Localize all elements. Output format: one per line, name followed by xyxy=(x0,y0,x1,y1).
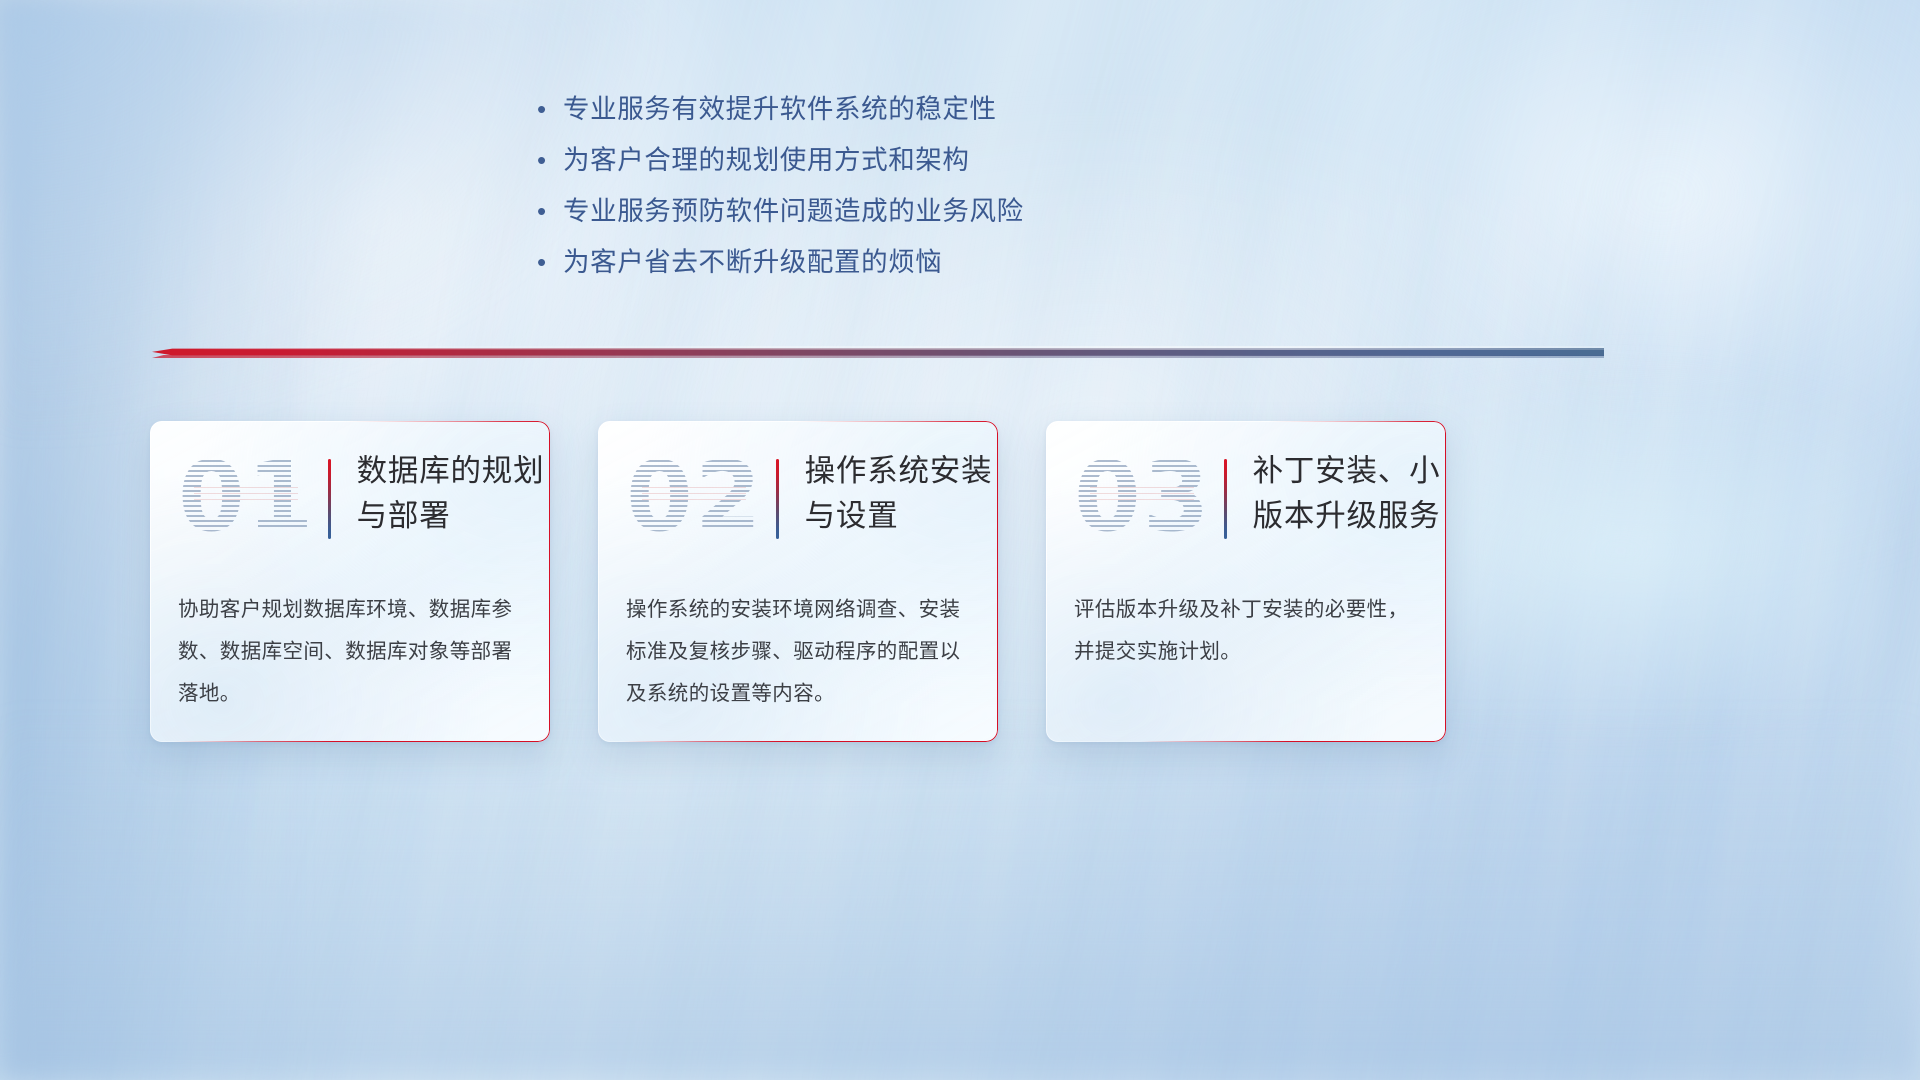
card-description: 协助客户规划数据库环境、数据库参数、数据库空间、数据库对象等部署落地。 xyxy=(178,589,526,715)
bullet-text: 专业服务有效提升软件系统的稳定性 xyxy=(563,92,997,126)
card-description: 评估版本升级及补丁安装的必要性，并提交实施计划。 xyxy=(1074,589,1422,673)
card-accent-bar xyxy=(776,459,779,539)
card-title: 补丁安装、小 版本升级服务 xyxy=(1253,449,1441,539)
divider-highlight xyxy=(152,346,1604,350)
card-header: 01 数据库的规划 与部署 xyxy=(150,445,550,549)
card-number-watermark: 03 xyxy=(1074,445,1210,549)
background-vignette-bottom xyxy=(0,713,1920,1080)
list-item: • 专业服务预防软件问题造成的业务风险 xyxy=(537,194,1357,245)
service-card-row: 01 数据库的规划 与部署 协助客户规划数据库环境、数据库参数、数据库空间、数据… xyxy=(150,421,1770,746)
bullet-dot-icon: • xyxy=(537,143,563,177)
feature-bullet-list: • 专业服务有效提升软件系统的稳定性 • 为客户合理的规划使用方式和架构 • 专… xyxy=(537,92,1357,296)
bullet-text: 为客户合理的规划使用方式和架构 xyxy=(563,143,970,177)
divider-shadow-line xyxy=(152,355,1604,358)
bullet-dot-icon: • xyxy=(537,194,563,228)
service-card-02[interactable]: 02 操作系统安装 与设置 操作系统的安装环境网络调查、安装标准及复核步骤、驱动… xyxy=(598,421,998,742)
card-accent-bar xyxy=(328,459,331,539)
service-card-03[interactable]: 03 补丁安装、小 版本升级服务 评估版本升级及补丁安装的必要性，并提交实施计划… xyxy=(1046,421,1446,742)
bullet-text: 为客户省去不断升级配置的烦恼 xyxy=(563,245,942,279)
card-title: 数据库的规划 与部署 xyxy=(357,449,545,539)
service-card-01[interactable]: 01 数据库的规划 与部署 协助客户规划数据库环境、数据库参数、数据库空间、数据… xyxy=(150,421,550,742)
bullet-dot-icon: • xyxy=(537,92,563,126)
card-number-watermark: 01 xyxy=(178,445,314,549)
list-item: • 为客户省去不断升级配置的烦恼 xyxy=(537,245,1357,296)
card-title: 操作系统安装 与设置 xyxy=(805,449,993,539)
card-header: 02 操作系统安装 与设置 xyxy=(598,445,998,549)
card-header: 03 补丁安装、小 版本升级服务 xyxy=(1046,445,1446,549)
list-item: • 为客户合理的规划使用方式和架构 xyxy=(537,143,1357,194)
bullet-dot-icon: • xyxy=(537,245,563,279)
card-description: 操作系统的安装环境网络调查、安装标准及复核步骤、驱动程序的配置以及系统的设置等内… xyxy=(626,589,974,715)
card-accent-bar xyxy=(1224,459,1227,539)
list-item: • 专业服务有效提升软件系统的稳定性 xyxy=(537,92,1357,143)
card-number-watermark: 02 xyxy=(626,445,762,549)
section-divider xyxy=(152,346,1604,360)
bullet-text: 专业服务预防软件问题造成的业务风险 xyxy=(563,194,1024,228)
